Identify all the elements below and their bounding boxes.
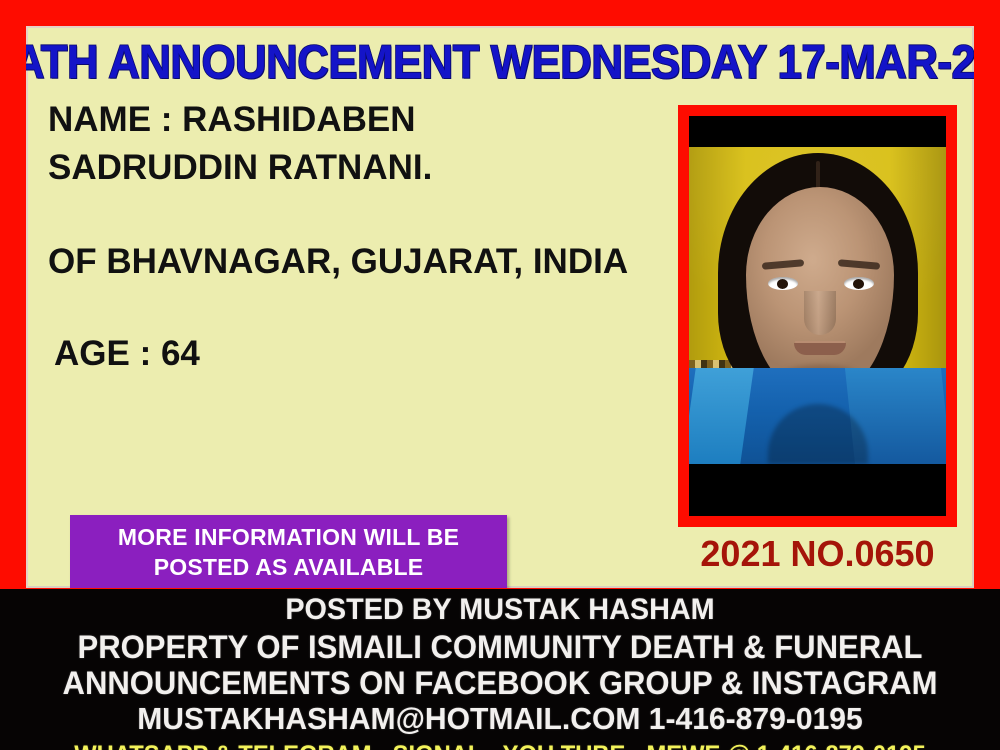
deceased-name-line-2: SADRUDDIN RATNANI. <box>48 144 678 192</box>
portrait-eye-left <box>768 277 798 290</box>
footer-text-block: POSTED BY MUSTAK HASHAM PROPERTY OF ISMA… <box>0 591 1000 750</box>
footer-channels-line: ANNOUNCEMENTS ON FACEBOOK GROUP & INSTAG… <box>15 665 985 701</box>
deceased-age: AGE : 64 <box>48 330 678 378</box>
portrait-photo-frame <box>678 105 957 527</box>
deceased-info-block: NAME : RASHIDABEN SADRUDDIN RATNANI. OF … <box>48 96 678 378</box>
footer-email-phone: MUSTAKHASHAM@HOTMAIL.COM 1-416-879-0195 <box>15 701 985 737</box>
notice-line-2: POSTED AS AVAILABLE <box>154 552 424 582</box>
portrait-pupil-left <box>777 279 788 289</box>
more-information-notice: MORE INFORMATION WILL BE POSTED AS AVAIL… <box>70 515 507 588</box>
poster-footer: POSTED BY MUSTAK HASHAM PROPERTY OF ISMA… <box>0 589 1000 750</box>
portrait-image <box>689 147 946 464</box>
footer-posted-by: POSTED BY MUSTAK HASHAM <box>20 591 980 629</box>
deceased-name-line-1: NAME : RASHIDABEN <box>48 96 678 144</box>
portrait-face <box>746 187 894 395</box>
portrait-nose <box>804 291 836 335</box>
portrait-mouth <box>794 343 846 355</box>
portrait-eye-right <box>844 277 874 290</box>
notice-line-1: MORE INFORMATION WILL BE <box>118 522 459 552</box>
announcement-panel: DEATH ANNOUNCEMENT WEDNESDAY 17-MAR-2021… <box>26 26 974 588</box>
announcement-reference-number: 2021 NO.0650 <box>678 532 957 576</box>
deceased-origin: OF BHAVNAGAR, GUJARAT, INDIA <box>48 238 678 286</box>
portrait-eyebrow-right <box>837 259 879 270</box>
announcement-header: DEATH ANNOUNCEMENT WEDNESDAY 17-MAR-2021 <box>26 30 974 92</box>
footer-messaging-apps: WHATSAPP & TELEGRAM - SIGNAL - YOU TUBE … <box>25 739 975 750</box>
portrait-photo <box>689 116 946 516</box>
page-title: DEATH ANNOUNCEMENT WEDNESDAY 17-MAR-2021 <box>26 38 974 85</box>
portrait-pupil-right <box>853 279 864 289</box>
death-announcement-poster: DEATH ANNOUNCEMENT WEDNESDAY 17-MAR-2021… <box>0 0 1000 750</box>
portrait-eyebrow-left <box>761 259 803 270</box>
footer-property-line: PROPERTY OF ISMAILI COMMUNITY DEATH & FU… <box>15 629 985 665</box>
